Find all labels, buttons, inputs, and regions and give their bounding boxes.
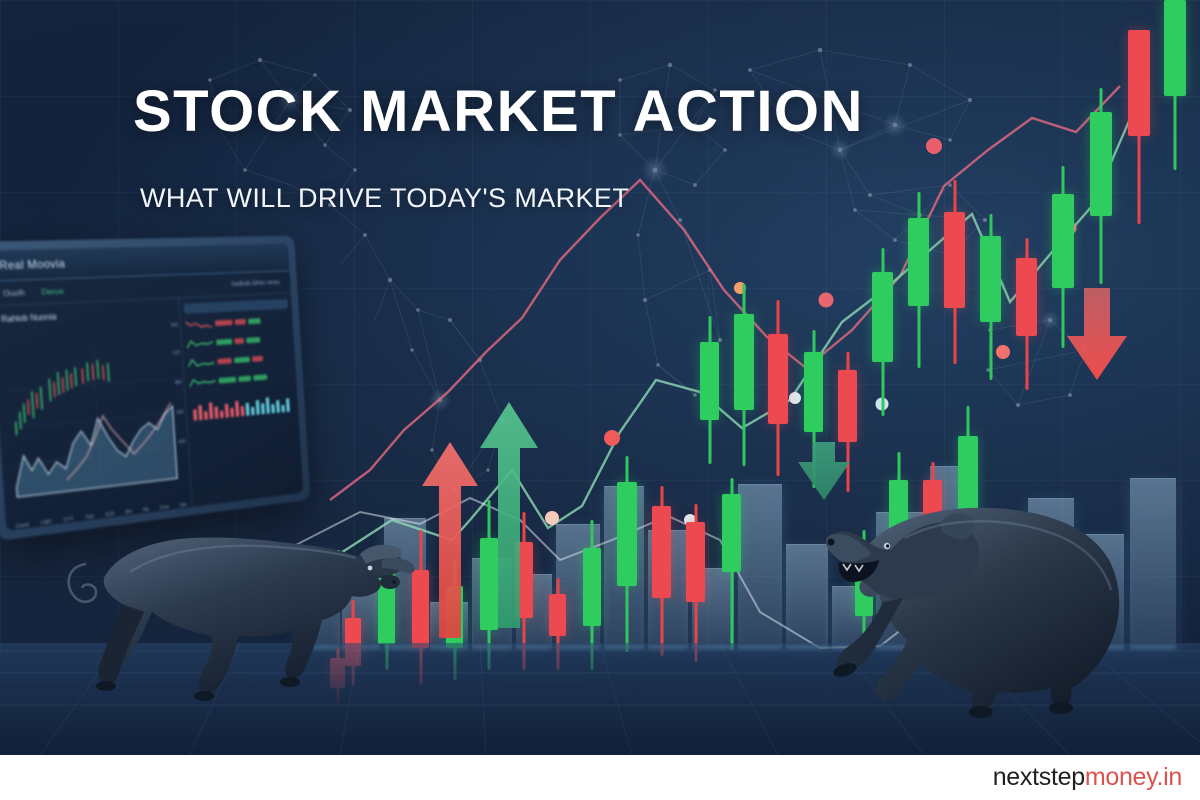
arrow-down-icon xyxy=(1064,286,1130,382)
monitor-screen: Real Moovia Ouuth Davus Sadbuls bihen ne… xyxy=(0,244,303,531)
data-point-marker xyxy=(789,392,801,404)
value-chip xyxy=(235,338,245,344)
bull-silhouette-icon xyxy=(60,520,420,720)
data-point-marker xyxy=(819,293,834,308)
bear-silhouette-icon xyxy=(795,498,1135,728)
value-chip xyxy=(235,319,246,325)
x-label: C09T xyxy=(41,519,53,526)
brand-name-primary: nextstep xyxy=(993,763,1085,791)
brand-logo[interactable]: nextstepmoney.in xyxy=(993,763,1182,792)
dashboard-candle-chart xyxy=(2,319,187,522)
value-chip xyxy=(252,356,263,362)
y-label: 520 xyxy=(173,350,180,356)
arrow-up-icon xyxy=(478,398,540,628)
sparkline-up-icon xyxy=(187,356,215,369)
artwork-area: Real Moovia Ouuth Davus Sadbuls bihen ne… xyxy=(0,0,1200,755)
candle-down xyxy=(1016,238,1037,390)
candle-up xyxy=(1164,0,1186,170)
data-point-marker xyxy=(545,511,559,525)
footer-bar: nextstepmoney.in xyxy=(0,755,1200,800)
value-chip xyxy=(218,358,233,364)
value-chip xyxy=(239,376,252,382)
candle-up xyxy=(722,478,741,650)
arrow-up-icon xyxy=(420,438,480,638)
candle-up xyxy=(734,284,754,466)
candle-up xyxy=(700,316,719,464)
brand-name-secondary: money.in xyxy=(1085,763,1182,791)
poster-canvas: Real Moovia Ouuth Davus Sadbuls bihen ne… xyxy=(0,0,1200,800)
value-chip xyxy=(216,339,232,345)
y-label: 480 xyxy=(175,380,182,386)
candle-down xyxy=(686,504,705,662)
watchlist-row[interactable] xyxy=(185,314,289,331)
dashboard-body: Rahlob Nuonia xyxy=(0,293,303,531)
candle-up xyxy=(1090,88,1112,284)
candle-up xyxy=(872,248,893,416)
data-point-marker xyxy=(926,138,942,154)
sparkline-up-icon xyxy=(186,337,214,350)
page-title: STOCK MARKET ACTION xyxy=(133,78,864,145)
candle-up xyxy=(908,192,929,368)
tab-right-note: Sadbuls bihen news xyxy=(231,279,280,287)
candle-down xyxy=(1128,30,1150,224)
tab-davus[interactable]: Davus xyxy=(41,286,64,297)
value-chip xyxy=(215,320,233,326)
x-label: Bnl xyxy=(125,509,132,515)
watchlist-row[interactable] xyxy=(187,351,291,369)
tab-ouuth[interactable]: Ouuth xyxy=(3,287,25,298)
y-label: 440 xyxy=(176,410,183,416)
y-label: 400 xyxy=(178,439,185,445)
x-label: Gma xyxy=(160,504,169,511)
dashboard-watchlist-panel[interactable] xyxy=(179,293,303,508)
value-chip xyxy=(253,374,267,380)
x-label: SOD xyxy=(105,511,115,518)
value-chip xyxy=(246,337,260,343)
x-label: Usanb xyxy=(15,522,29,530)
candle-up xyxy=(617,456,637,652)
watchlist-search-field[interactable] xyxy=(184,299,288,314)
x-label: Jalo xyxy=(179,502,187,508)
trading-dashboard-monitor[interactable]: Real Moovia Ouuth Davus Sadbuls bihen ne… xyxy=(0,236,311,541)
sparkline-up-icon xyxy=(189,375,217,388)
y-label: 560 xyxy=(171,323,178,329)
monitor-frame: Real Moovia Ouuth Davus Sadbuls bihen ne… xyxy=(0,236,311,541)
dashboard-chart-panel: Rahlob Nuonia xyxy=(0,298,193,531)
value-chip xyxy=(219,377,237,384)
watchlist-row[interactable] xyxy=(189,370,293,389)
candle-down xyxy=(944,180,965,364)
sparkline-down-icon xyxy=(185,318,213,331)
x-label: Nlo xyxy=(142,507,149,513)
arrow-down-icon xyxy=(796,440,852,502)
watchlist-row[interactable] xyxy=(186,333,290,350)
data-point-marker xyxy=(604,430,620,446)
value-chip xyxy=(234,357,250,364)
watchlist-volume-chart xyxy=(190,388,295,421)
candle-up xyxy=(980,214,1001,380)
page-subtitle: WHAT WILL DRIVE TODAY'S MARKET xyxy=(140,183,629,214)
dashboard-area-series xyxy=(12,406,177,497)
value-chip xyxy=(248,318,261,324)
dashboard-title: Real Moovia xyxy=(0,257,66,273)
candle-down xyxy=(652,486,671,656)
candle-down xyxy=(768,300,788,476)
